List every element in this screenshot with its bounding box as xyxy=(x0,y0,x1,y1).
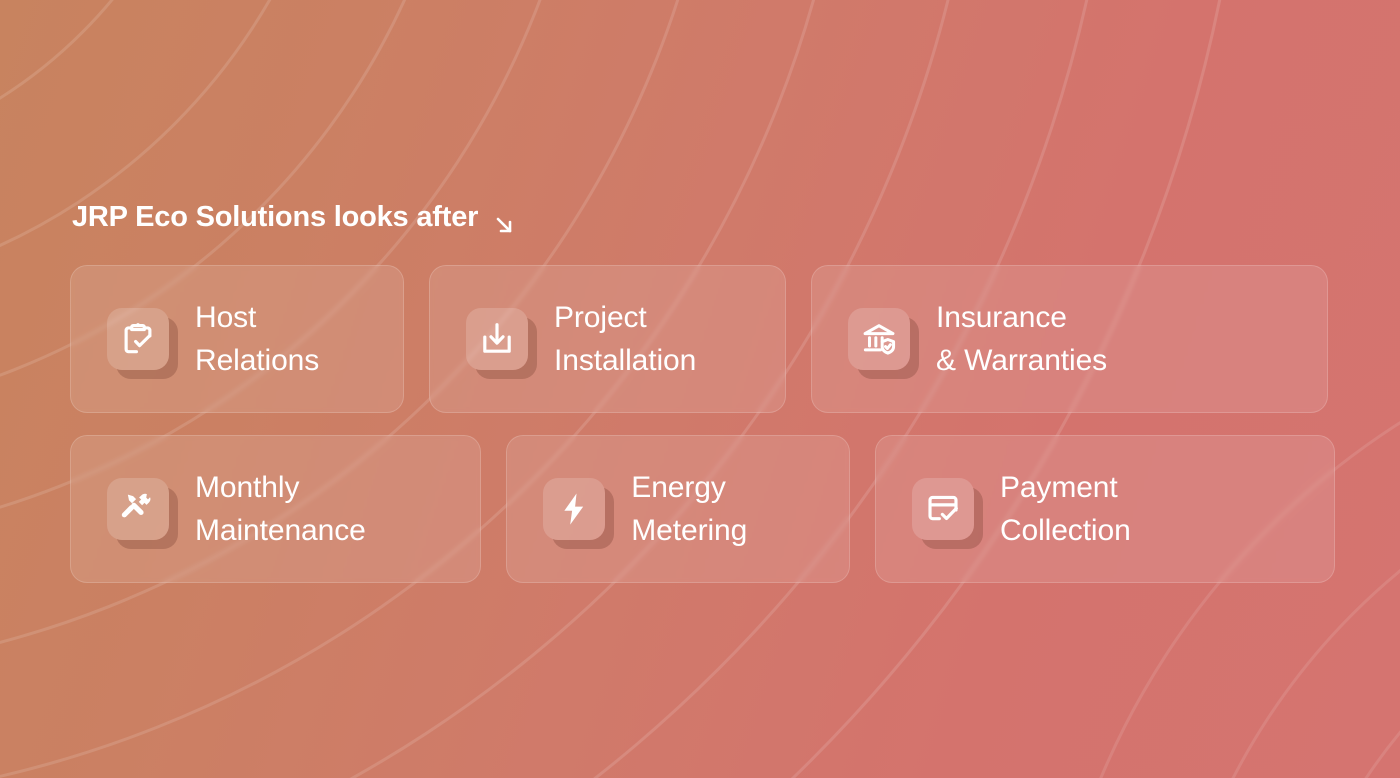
service-card-label: Host Relations xyxy=(195,296,319,382)
lightning-bolt-icon xyxy=(543,478,605,540)
page-title-text: JRP Eco Solutions looks after xyxy=(72,196,478,238)
service-card-label: Insurance & Warranties xyxy=(936,296,1107,382)
service-card-host-relations[interactable]: Host Relations xyxy=(70,265,404,413)
service-card-label: Energy Metering xyxy=(631,466,747,552)
credit-card-check-icon xyxy=(912,478,974,540)
service-card-insurance-warranties[interactable]: Insurance & Warranties xyxy=(811,265,1328,413)
service-card-label: Payment Collection xyxy=(1000,466,1131,552)
download-tray-icon xyxy=(466,308,528,370)
service-card-project-installation[interactable]: Project Installation xyxy=(429,265,786,413)
service-card-monthly-maintenance[interactable]: Monthly Maintenance xyxy=(70,435,481,583)
services-grid: Host Relations Project Installation xyxy=(70,265,1335,605)
arrow-down-right-icon xyxy=(492,207,516,231)
bank-shield-check-icon xyxy=(848,308,910,370)
service-card-energy-metering[interactable]: Energy Metering xyxy=(506,435,850,583)
page-title: JRP Eco Solutions looks after xyxy=(72,196,516,238)
hammer-screwdriver-icon xyxy=(107,478,169,540)
services-row-1: Host Relations Project Installation xyxy=(70,265,1335,413)
clipboard-check-icon xyxy=(107,308,169,370)
services-row-2: Monthly Maintenance Energy Metering xyxy=(70,435,1335,583)
service-card-label: Project Installation xyxy=(554,296,696,382)
service-card-payment-collection[interactable]: Payment Collection xyxy=(875,435,1335,583)
content-stage: JRP Eco Solutions looks after xyxy=(0,0,1400,778)
service-card-label: Monthly Maintenance xyxy=(195,466,366,552)
